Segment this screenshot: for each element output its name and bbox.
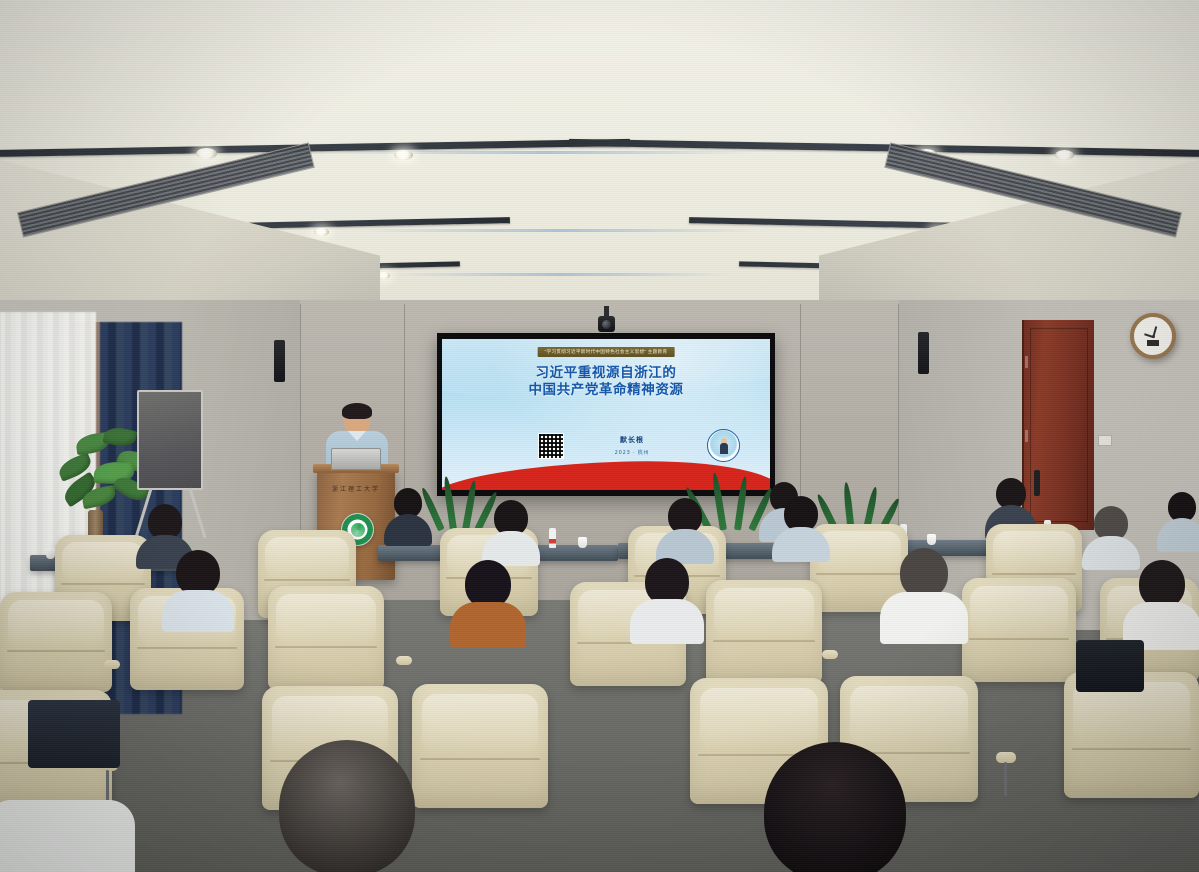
downlight-icon	[394, 150, 413, 160]
attendee	[636, 558, 698, 642]
door-handle[interactable]	[1034, 470, 1040, 496]
downlight-icon	[1055, 150, 1074, 160]
potted-plant	[430, 470, 490, 530]
attendee-foreground	[272, 740, 422, 872]
potted-plant	[700, 470, 770, 530]
chair-arm-post	[1004, 762, 1007, 796]
qr-code-icon	[538, 433, 564, 459]
attendee-foreground	[0, 790, 120, 872]
attendee	[1160, 492, 1199, 550]
laptop-bag	[28, 700, 120, 768]
slide-emblem-logo-icon	[707, 429, 740, 462]
ceiling	[0, 0, 1199, 332]
chair[interactable]	[412, 684, 548, 808]
presenter-hair	[342, 403, 372, 419]
slide-title-line-1: 习近平重视源自浙江的	[442, 365, 770, 382]
attendee	[386, 488, 430, 544]
attendee	[456, 560, 520, 646]
slide-title-line-2: 中国共产党革命精神资源	[442, 382, 770, 399]
light-switch[interactable]	[1098, 435, 1112, 446]
ceiling-seam	[360, 229, 760, 232]
slide-banner-text: “学习贯彻习近平新时代中国特色社会主义思想” 主题教育	[538, 347, 675, 357]
paper-cup	[46, 548, 55, 559]
attendee	[168, 550, 228, 628]
chair[interactable]	[706, 580, 822, 684]
attendee	[776, 496, 826, 560]
laptop-bag	[1076, 640, 1144, 692]
downlight-icon	[314, 228, 329, 236]
downlight-icon	[196, 148, 217, 159]
attendee	[660, 498, 710, 562]
slide-date-location: 2023 · 杭州	[587, 449, 677, 456]
paper-cup	[927, 534, 936, 545]
ceiling-seam	[390, 273, 730, 276]
slide-title: 习近平重视源自浙江的 中国共产党革命精神资源	[442, 365, 770, 399]
wall-clock	[1130, 313, 1176, 359]
wall-speaker	[274, 340, 285, 382]
chair[interactable]	[962, 578, 1076, 682]
attendee	[1130, 560, 1194, 648]
attendee	[890, 548, 958, 640]
laptop[interactable]	[331, 448, 381, 470]
attendee	[486, 500, 536, 564]
podium-nameplate: 浙江理工大学	[323, 484, 389, 496]
slide-speaker-name: 默长根	[587, 435, 677, 445]
water-bottle	[549, 528, 556, 548]
paper-cup	[578, 537, 587, 548]
chair-armrest	[396, 656, 412, 665]
clock-date-window	[1147, 340, 1159, 346]
whiteboard-on-stand	[137, 390, 203, 490]
chair-armrest	[104, 660, 120, 669]
chair-armrest	[822, 650, 838, 659]
chair[interactable]	[268, 586, 384, 690]
ceiling-strip	[569, 139, 1199, 157]
attendee	[1086, 506, 1136, 568]
wall-speaker	[918, 332, 929, 374]
conference-room-photo: “学习贯彻习近平新时代中国特色社会主义思想” 主题教育 习近平重视源自浙江的 中…	[0, 0, 1199, 872]
video-camera-icon	[598, 316, 615, 332]
presentation-slide: “学习贯彻习近平新时代中国特色社会主义思想” 主题教育 习近平重视源自浙江的 中…	[442, 339, 770, 490]
chair[interactable]	[0, 592, 112, 692]
attendee-foreground	[760, 742, 910, 872]
ceiling-strip	[0, 139, 630, 157]
